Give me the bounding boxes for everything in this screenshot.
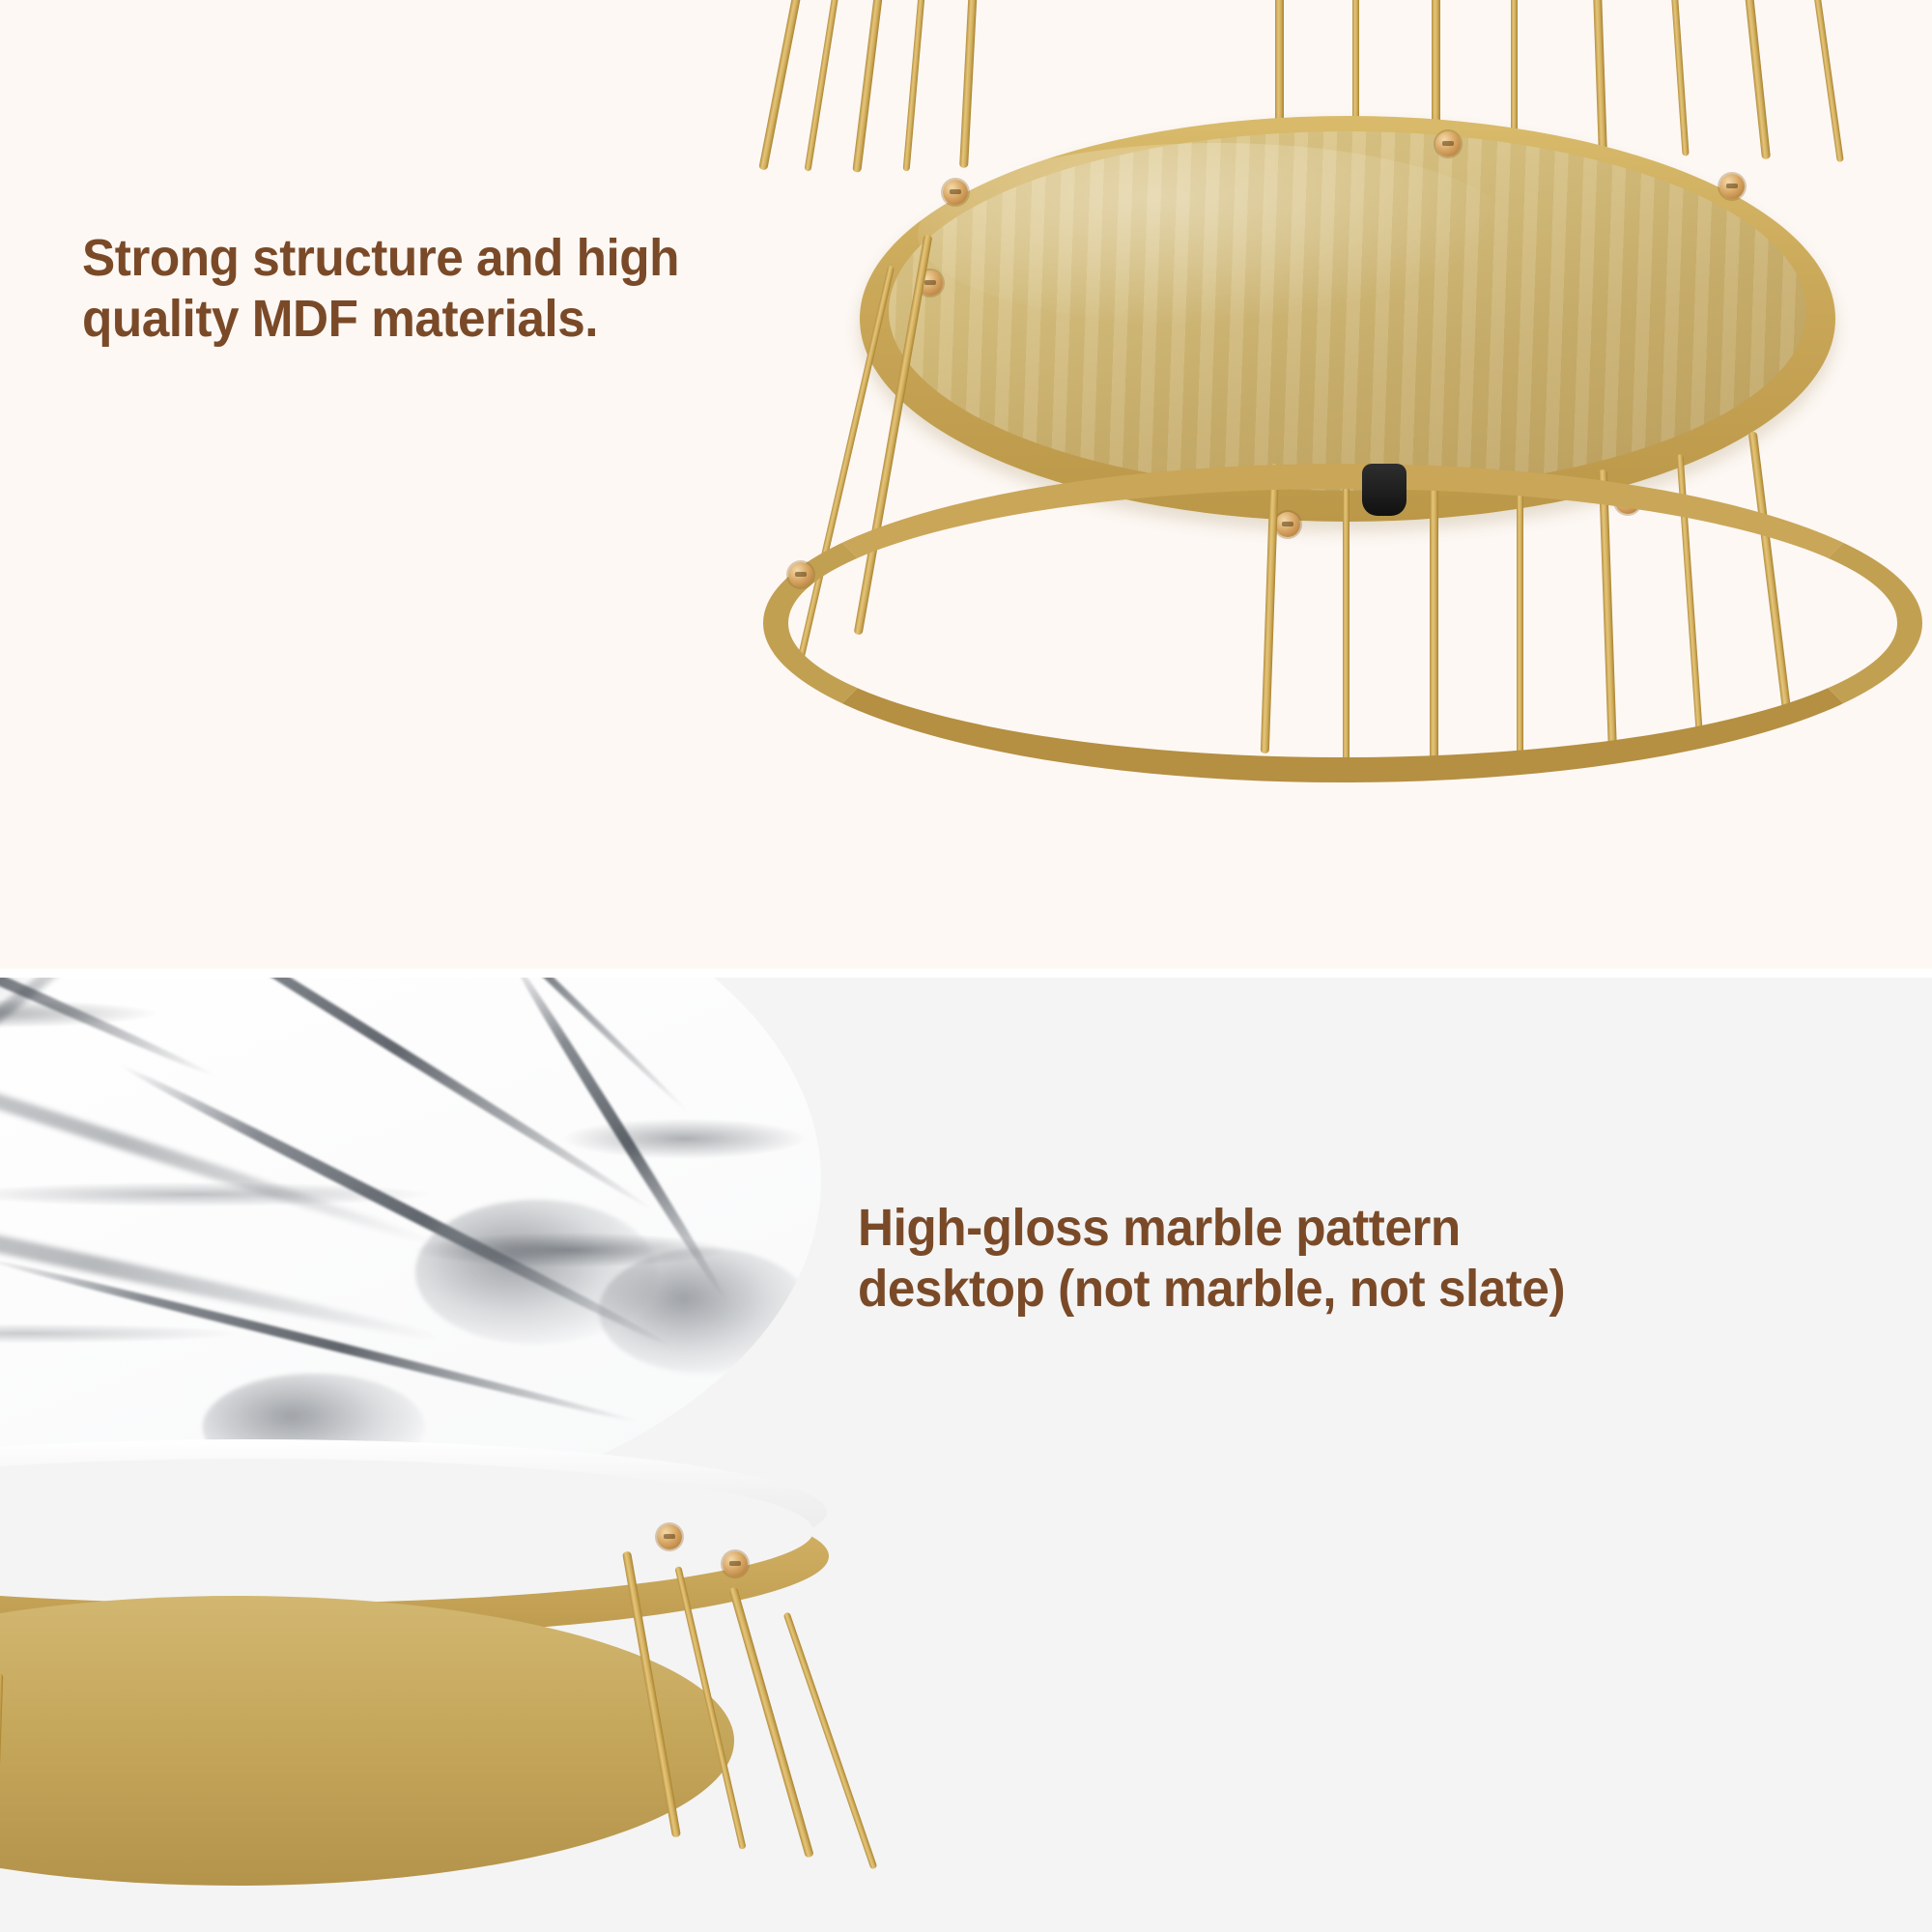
base-ring [763,464,1922,782]
wire-spoke [728,1586,814,1858]
wire-spoke [959,0,993,168]
panel-divider [0,969,1932,978]
foot-cap [1362,464,1406,516]
wire-spoke [1648,0,1689,156]
feature-panel-top: Strong structure and high quality MDF ma… [0,0,1932,969]
feature-caption-bottom: High-gloss marble pattern desktop (not m… [858,1198,1574,1320]
marble-vein [77,978,656,1215]
product-photo-marble-top [0,978,1053,1895]
screw-head [788,562,813,587]
marble-vein [0,978,119,1108]
lower-shelf-plate [0,1596,734,1886]
wire-spoke [903,0,952,171]
wire-spoke [1581,0,1607,155]
photo-alt-top: Close-up of gold metal side table frame … [0,0,1,1]
screw-head [723,1551,748,1577]
screw-head [657,1524,682,1549]
feature-panel-bottom: High-gloss marble pattern desktop (not m… [0,978,1932,1932]
screw-head [1719,174,1745,199]
marble-vein [0,1009,439,1251]
marble-blotch [599,1248,811,1374]
shelf-highlight [918,143,1517,327]
wire-spoke [1772,0,1844,162]
screw-head [943,180,968,205]
infographic-canvas: Strong structure and high quality MDF ma… [0,0,1932,1932]
wire-spoke [1712,0,1771,159]
marble-vein [296,978,690,1114]
screw-head [1435,131,1461,156]
wire-spoke [758,0,854,171]
feature-caption-top: Strong structure and high quality MDF ma… [82,228,780,350]
product-photo-frame-closeup [599,0,1932,969]
